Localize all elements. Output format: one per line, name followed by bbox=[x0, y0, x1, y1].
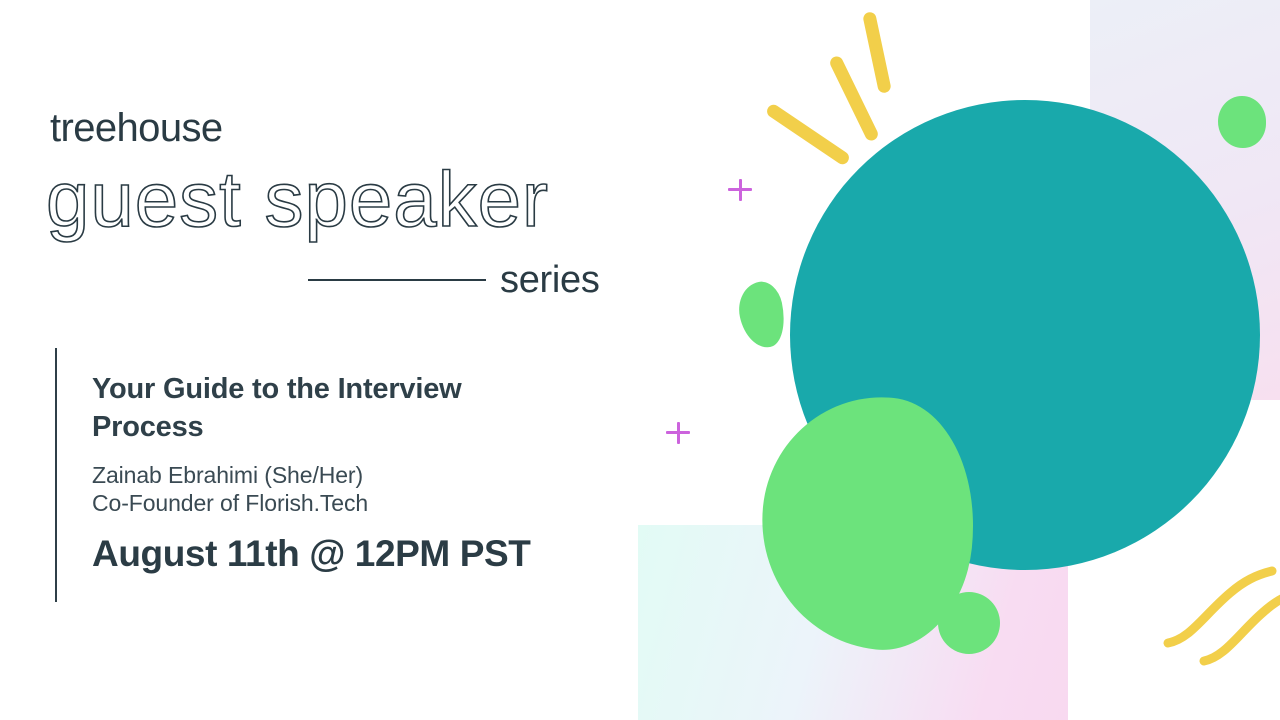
speaker-role: Co-Founder of Florish.Tech bbox=[92, 489, 368, 518]
series-subhead: series bbox=[500, 261, 600, 299]
green-circle-right bbox=[1218, 96, 1266, 148]
event-datetime: August 11th @ 12PM PST bbox=[92, 534, 530, 575]
series-divider-rule bbox=[308, 279, 486, 281]
green-blob-small bbox=[734, 278, 791, 352]
yellow-sparkle-stroke-3 bbox=[862, 11, 892, 94]
green-circle-bottom bbox=[938, 592, 1000, 654]
brand-wordmark: treehouse bbox=[50, 108, 223, 148]
text-column: treehouse guest speaker series Your Guid… bbox=[0, 0, 660, 720]
talk-title: Your Guide to the Interview Process bbox=[92, 370, 522, 447]
series-headline: guest speaker bbox=[46, 160, 549, 238]
promo-slide: treehouse guest speaker series Your Guid… bbox=[0, 0, 1280, 720]
vertical-accent-rule bbox=[55, 348, 57, 602]
plus-mark-upper bbox=[728, 179, 752, 201]
plus-vertical bbox=[739, 179, 742, 201]
plus-mark-lower bbox=[666, 422, 690, 444]
plus-vertical bbox=[677, 422, 680, 444]
yellow-sparkle-stroke-1 bbox=[765, 102, 852, 166]
yellow-curve-strokes bbox=[1160, 565, 1280, 685]
series-subhead-row: series bbox=[308, 258, 628, 302]
speaker-name: Zainab Ebrahimi (She/Her) bbox=[92, 461, 363, 490]
yellow-sparkle-stroke-2 bbox=[828, 54, 880, 142]
